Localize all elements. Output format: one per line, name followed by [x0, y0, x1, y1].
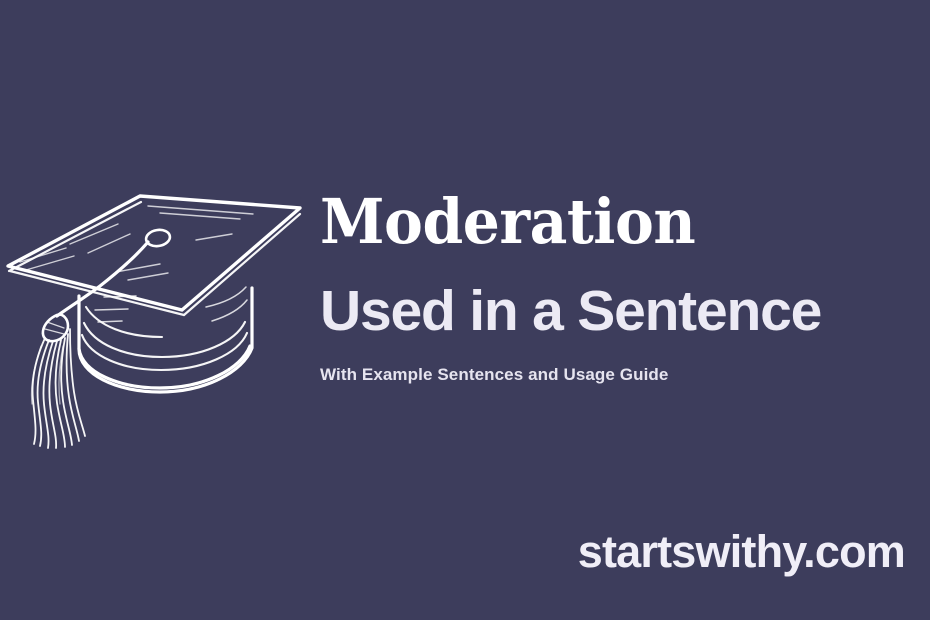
- brand-name: startswithy.com: [578, 524, 905, 580]
- poster-text-block: Moderation Used in a Sentence With Examp…: [320, 188, 920, 386]
- poster-canvas: Moderation Used in a Sentence With Examp…: [0, 0, 930, 620]
- page-title: Moderation: [320, 188, 884, 256]
- graduation-cap-sketch-icon: [0, 176, 310, 451]
- page-tagline: With Example Sentences and Usage Guide: [320, 342, 920, 386]
- page-subtitle: Used in a Sentence: [320, 256, 920, 342]
